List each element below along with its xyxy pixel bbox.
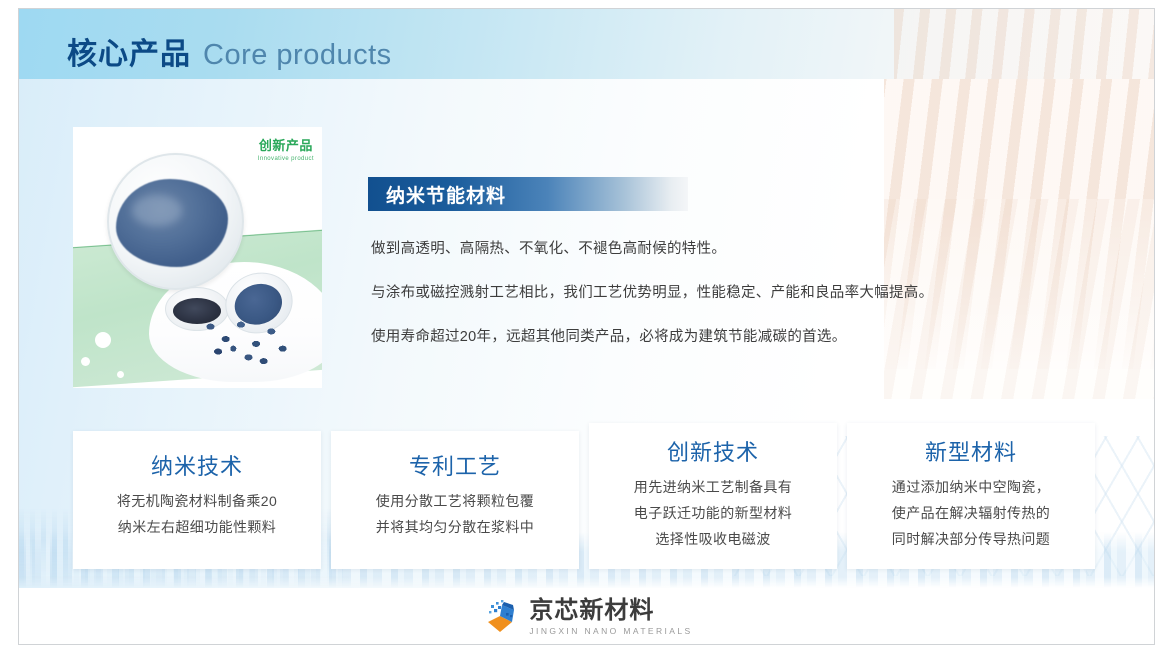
feature-card-body: 将无机陶瓷材料制备乘20 纳米左右超细功能性颗料: [73, 489, 321, 541]
company-logo: 京芯新材料 JINGXIN NANO MATERIALS: [480, 598, 692, 636]
feature-card-line: 使产品在解决辐射传热的: [861, 501, 1081, 527]
page-title: 核心产品Core products: [67, 29, 392, 73]
product-paragraph: 与涂布或磁控溅射工艺相比，我们工艺优势明显，性能稳定、产能和良品率大幅提高。: [371, 283, 1051, 305]
feature-card-line: 选择性吸收电磁波: [603, 527, 823, 553]
feature-card-body: 使用分散工艺将颗粒包覆 并将其均匀分散在浆料中: [331, 489, 579, 541]
product-paragraph: 做到高透明、高隔热、不氧化、不褪色高耐候的特性。: [371, 239, 1051, 261]
feature-card-innovative-technology[interactable]: 创新技术 用先进纳米工艺制备具有 电子跃迁功能的新型材料 选择性吸收电磁波: [589, 423, 837, 569]
product-image-caption-en: Innovative product: [258, 156, 314, 162]
feature-card-body: 通过添加纳米中空陶瓷， 使产品在解决辐射传热的 同时解决部分传导热问题: [847, 475, 1095, 553]
feature-card-new-material[interactable]: 新型材料 通过添加纳米中空陶瓷， 使产品在解决辐射传热的 同时解决部分传导热问题: [847, 423, 1095, 569]
slide-frame: 核心产品Core products: [18, 8, 1155, 645]
product-image: 创新产品 Innovative product: [73, 127, 322, 388]
feature-card-patented-process[interactable]: 专利工艺 使用分散工艺将颗粒包覆 并将其均匀分散在浆料中: [331, 431, 579, 569]
feature-card-line: 使用分散工艺将颗粒包覆: [345, 489, 565, 515]
product-image-dot: [95, 332, 111, 348]
feature-card-title: 纳米技术: [73, 449, 321, 481]
feature-card-line: 纳米左右超细功能性颗料: [87, 515, 307, 541]
page-title-en: Core products: [203, 39, 392, 71]
product-title: 纳米节能材料: [368, 181, 506, 208]
page-header: 核心产品Core products: [19, 9, 1154, 79]
product-image-dot: [81, 357, 90, 366]
feature-card-title: 新型材料: [847, 435, 1095, 467]
feature-card-title: 创新技术: [589, 435, 837, 467]
company-name-cn: 京芯新材料: [529, 599, 692, 623]
feature-card-line: 通过添加纳米中空陶瓷，: [861, 475, 1081, 501]
feature-card-body: 用先进纳米工艺制备具有 电子跃迁功能的新型材料 选择性吸收电磁波: [589, 475, 837, 553]
company-name-en: JINGXIN NANO MATERIALS: [529, 627, 692, 636]
slide-body: 创新产品 Innovative product 纳米节能材料 做到高透明、高隔热…: [19, 79, 1154, 645]
product-image-caption-cn: 创新产品: [258, 135, 314, 154]
jingxin-logo-icon: [480, 598, 520, 636]
nano-pellets: [201, 317, 296, 365]
company-logo-text: 京芯新材料 JINGXIN NANO MATERIALS: [529, 599, 692, 636]
feature-card-line: 电子跃迁功能的新型材料: [603, 501, 823, 527]
feature-card-line: 同时解决部分传导热问题: [861, 527, 1081, 553]
petri-dish-large: [107, 153, 244, 290]
product-paragraph: 使用寿命超过20年，远超其他同类产品，必将成为建筑节能减碳的首选。: [371, 327, 1051, 349]
feature-card-list: 纳米技术 将无机陶瓷材料制备乘20 纳米左右超细功能性颗料 专利工艺 使用分散工…: [73, 419, 1103, 569]
page-footer: 京芯新材料 JINGXIN NANO MATERIALS: [19, 588, 1154, 645]
feature-card-line: 将无机陶瓷材料制备乘20: [87, 489, 307, 515]
feature-card-title: 专利工艺: [331, 449, 579, 481]
header-architecture-decoration: [894, 9, 1154, 79]
product-image-caption: 创新产品 Innovative product: [258, 135, 314, 162]
product-description: 做到高透明、高隔热、不氧化、不褪色高耐候的特性。 与涂布或磁控溅射工艺相比，我们…: [371, 239, 1051, 370]
product-title-bar: 纳米节能材料: [368, 177, 688, 211]
feature-card-nano-technology[interactable]: 纳米技术 将无机陶瓷材料制备乘20 纳米左右超细功能性颗料: [73, 431, 321, 569]
page-title-cn: 核心产品: [67, 38, 191, 71]
feature-card-line: 并将其均匀分散在浆料中: [345, 515, 565, 541]
product-image-dot: [117, 371, 124, 378]
feature-card-line: 用先进纳米工艺制备具有: [603, 475, 823, 501]
slide-canvas: 核心产品Core products: [0, 0, 1165, 660]
nano-powder: [116, 179, 228, 267]
